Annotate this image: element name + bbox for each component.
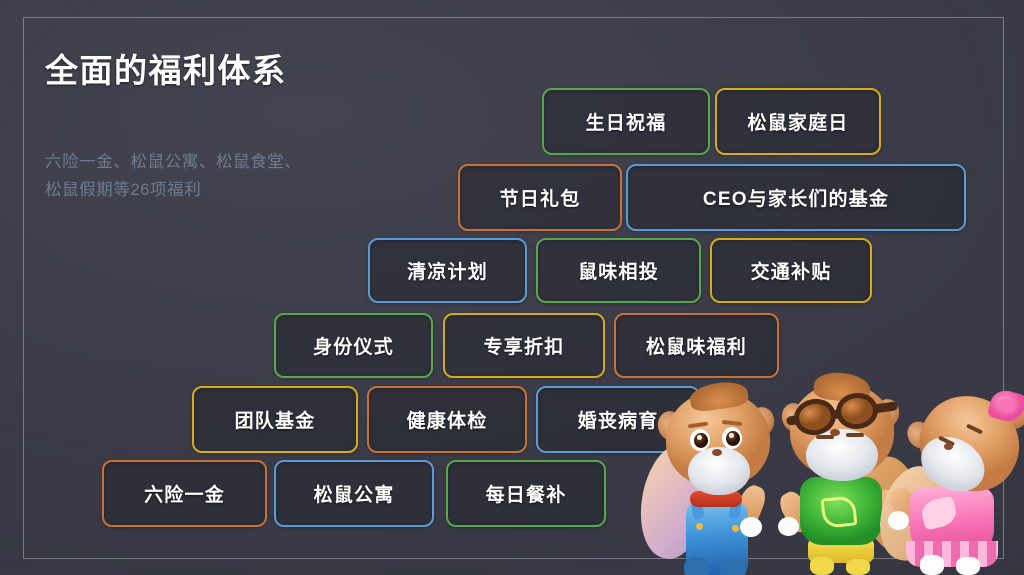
benefit-label: 鼠味相投	[578, 257, 659, 284]
paw-right	[740, 517, 762, 537]
benefit-box[interactable]: 生日祝福	[542, 88, 710, 155]
benefit-label: 交通补贴	[751, 257, 832, 284]
benefit-label: 生日祝福	[586, 108, 667, 135]
mascot-group	[648, 378, 1024, 575]
benefit-box[interactable]: 松鼠味福利	[614, 313, 779, 378]
benefit-label: 健康体检	[407, 406, 488, 433]
pupil-left	[694, 433, 708, 448]
benefit-box[interactable]: 团队基金	[192, 386, 358, 453]
nose	[830, 429, 840, 436]
benefit-box[interactable]: 专享折扣	[443, 313, 605, 378]
eye-left-closed	[816, 435, 834, 439]
paw-left	[888, 511, 909, 530]
page-title: 全面的福利体系	[45, 44, 287, 92]
benefit-label: 松鼠味福利	[646, 332, 747, 359]
leg-left	[810, 557, 834, 575]
benefit-label: 节日礼包	[500, 184, 581, 211]
benefit-box[interactable]: 交通补贴	[710, 238, 872, 303]
benefit-label: 松鼠家庭日	[747, 108, 848, 135]
benefit-label: 六险一金	[144, 480, 225, 507]
benefit-box[interactable]: 清凉计划	[368, 238, 527, 303]
benefit-box[interactable]: 六险一金	[102, 460, 267, 527]
benefit-label: CEO与家长们的基金	[703, 184, 889, 211]
overall-button-left	[696, 523, 703, 530]
benefit-box[interactable]: 每日餐补	[446, 460, 606, 527]
benefit-label: 身份仪式	[313, 332, 394, 359]
benefit-label: 团队基金	[235, 406, 316, 433]
benefit-label: 清凉计划	[407, 257, 488, 284]
eye-right-closed	[846, 433, 864, 437]
benefit-box[interactable]: 身份仪式	[274, 313, 433, 378]
leg-left	[684, 557, 710, 575]
benefit-box[interactable]: 松鼠公寓	[274, 460, 434, 527]
overall-button-right	[732, 525, 739, 532]
slide-canvas: 全面的福利体系 六险一金、松鼠公寓、松鼠食堂、 松鼠假期等26项福利 生日祝福松…	[0, 0, 1024, 575]
leg-left	[920, 555, 944, 575]
benefit-box[interactable]: 健康体检	[367, 386, 527, 453]
leg-right	[720, 559, 746, 575]
benefit-box[interactable]: 鼠味相投	[536, 238, 701, 303]
squirrel-mascot-pink-dress-bow	[886, 395, 1024, 575]
leg-right	[956, 557, 980, 575]
benefit-label: 婚丧病育	[578, 406, 659, 433]
pupil-right	[726, 431, 740, 446]
benefit-box[interactable]: 松鼠家庭日	[715, 88, 881, 155]
benefit-box[interactable]: 节日礼包	[458, 164, 622, 231]
nose	[712, 449, 722, 456]
nose	[944, 443, 953, 450]
benefit-label: 每日餐补	[486, 480, 567, 507]
benefit-box[interactable]: CEO与家长们的基金	[626, 164, 966, 231]
paw-left	[778, 517, 799, 536]
leg-right	[846, 559, 870, 575]
slide-subtitle: 六险一金、松鼠公寓、松鼠食堂、 松鼠假期等26项福利	[45, 148, 302, 204]
benefit-label: 松鼠公寓	[314, 480, 395, 507]
benefit-label: 专享折扣	[484, 332, 565, 359]
